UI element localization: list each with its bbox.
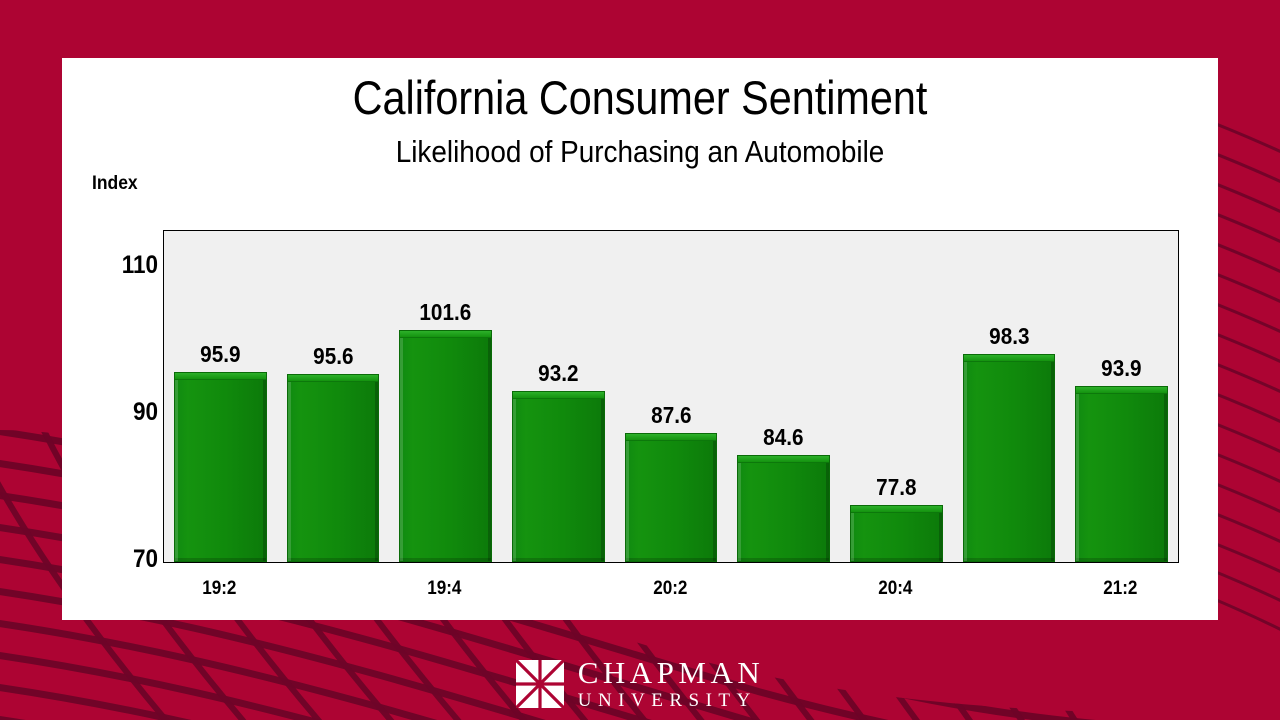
- y-axis: 1109070: [88, 230, 158, 563]
- bar-19:2: [174, 372, 266, 563]
- bar-top-bevel: [1076, 387, 1166, 394]
- bar-top-bevel: [964, 355, 1054, 362]
- x-axis-tick-label: 20:2: [619, 578, 720, 600]
- bar-top-bevel: [626, 434, 716, 441]
- x-axis-tick-label: 19:4: [394, 578, 495, 600]
- x-axis-tick-label: 19:2: [169, 578, 270, 600]
- bar-value-label: 93.9: [1071, 355, 1172, 382]
- bar-value-label: 84.6: [733, 424, 834, 451]
- x-axis-tick-label: 20:4: [845, 578, 946, 600]
- y-axis-tick-label: 110: [104, 251, 158, 280]
- logo-name-text: CHAPMAN: [578, 657, 765, 688]
- bar-21:2: [1075, 386, 1167, 562]
- bar-value-label: 93.2: [508, 360, 609, 387]
- logo-subtitle-text: UNIVERSITY: [578, 691, 765, 710]
- bar-value-label: 101.6: [395, 299, 496, 326]
- bar-top-bevel: [513, 392, 603, 399]
- bar-19:3: [287, 374, 379, 562]
- bar-value-label: 77.8: [846, 474, 947, 501]
- bar-top-bevel: [738, 456, 828, 463]
- chapman-emblem-icon: [516, 660, 564, 708]
- chapman-university-logo: CHAPMAN UNIVERSITY: [0, 657, 1280, 710]
- chapman-wordmark: CHAPMAN UNIVERSITY: [578, 657, 765, 710]
- bar-20:1: [512, 391, 604, 562]
- bar-21:1: [963, 354, 1055, 562]
- chart-subtitle: Likelihood of Purchasing an Automobile: [120, 134, 1160, 170]
- x-axis-tick-label: 21:2: [1070, 578, 1171, 600]
- chart-plot-area: 95.995.6101.693.287.684.677.898.393.9: [163, 230, 1179, 563]
- y-axis-tick-label: 70: [104, 545, 158, 574]
- bar-top-bevel: [400, 331, 490, 338]
- slide-content-card: California Consumer Sentiment Likelihood…: [62, 58, 1218, 620]
- bar-value-label: 95.9: [170, 341, 271, 368]
- bar-value-label: 95.6: [282, 343, 383, 370]
- bar-20:2: [625, 433, 717, 562]
- bar-series: 95.995.6101.693.287.684.677.898.393.9: [164, 231, 1178, 562]
- bar-top-bevel: [175, 373, 265, 380]
- bar-19:4: [399, 330, 491, 562]
- y-axis-tick-label: 90: [104, 398, 158, 427]
- bar-20:4: [850, 505, 942, 562]
- page-title: California Consumer Sentiment: [131, 72, 1148, 124]
- bar-20:3: [737, 455, 829, 562]
- bar-top-bevel: [288, 375, 378, 382]
- x-axis: 19:219:420:220:421:2: [163, 570, 1179, 604]
- bar-value-label: 87.6: [620, 402, 721, 429]
- bar-top-bevel: [851, 506, 941, 513]
- y-axis-unit-label: Index: [92, 173, 138, 195]
- bar-value-label: 98.3: [958, 323, 1059, 350]
